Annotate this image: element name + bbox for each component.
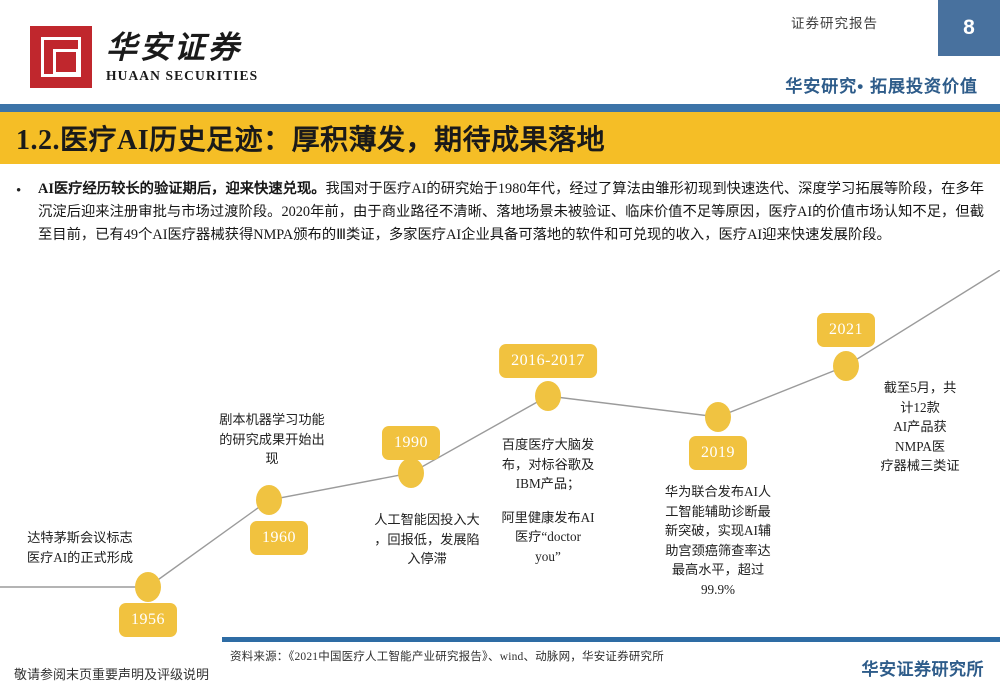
timeline-node-description: 百度医疗大脑发布，对标谷歌及IBM产品；阿里健康发布AI医疗“doctoryou… [501, 435, 594, 566]
timeline-node-dot [135, 572, 161, 602]
timeline-year-badge[interactable]: 2016-2017 [499, 344, 597, 378]
title-blue-strip [0, 104, 1000, 112]
logo-name-en: HUAAN SECURITIES [106, 69, 258, 83]
timeline-desc-line: 阿里健康发布AI医疗“doctoryou” [501, 508, 594, 567]
timeline-node-dot [705, 402, 731, 432]
timeline-node-dot [398, 458, 424, 488]
page-title: 1.2.医疗AI历史足迹：厚积薄发，期待成果落地 [0, 118, 605, 158]
logo-name-cn: 华安证券 [106, 32, 258, 63]
header-slogan: 华安研究• 拓展投资价值 [785, 72, 978, 97]
timeline-desc-line: 达特茅斯会议标志医疗AI的正式形成 [27, 528, 133, 567]
timeline-node-description: 达特茅斯会议标志医疗AI的正式形成 [27, 528, 133, 567]
timeline-desc-line: 剧本机器学习功能的研究成果开始出现 [219, 410, 325, 469]
footer-divider [222, 637, 1000, 642]
huaan-logo-icon [30, 26, 92, 88]
body-paragraph-block: • AI医疗经历较长的验证期后，迎来快速兑现。我国对于医疗AI的研究始于1980… [16, 178, 984, 247]
timeline-desc-line: 华为联合发布AI人工智能辅助诊断最新突破，实现AI辅助宫颈癌筛查率达最高水平，超… [665, 482, 771, 599]
timeline-node-description: 截至5月，共计12款AI产品获NMPA医疗器械三类证 [880, 378, 960, 476]
footer-brand: 华安证券研究所 [862, 655, 985, 680]
body-lead: AI医疗经历较长的验证期后，迎来快速兑现。 [38, 181, 326, 197]
logo-wordmark: 华安证券 HUAAN SECURITIES [106, 32, 258, 83]
timeline-node-dot [535, 381, 561, 411]
report-type-label: 证券研究报告 [791, 12, 878, 32]
timeline-year-badge[interactable]: 1960 [250, 521, 308, 555]
body-paragraph: AI医疗经历较长的验证期后，迎来快速兑现。我国对于医疗AI的研究始于1980年代… [38, 178, 984, 247]
timeline-node-description: 华为联合发布AI人工智能辅助诊断最新突破，实现AI辅助宫颈癌筛查率达最高水平，超… [665, 482, 771, 599]
timeline-desc-line: 人工智能因投入大，回报低，发展陷入停滞 [374, 510, 480, 569]
slide-root: 华安证券 HUAAN SECURITIES 证券研究报告 8 华安研究• 拓展投… [0, 0, 1000, 692]
slide-title-band: 1.2.医疗AI历史足迹：厚积薄发，期待成果落地 [0, 112, 1000, 164]
timeline-desc-line: 截至5月，共计12款AI产品获NMPA医疗器械三类证 [880, 378, 960, 476]
disclaimer-note: 敬请参阅末页重要声明及评级说明 [14, 664, 209, 683]
timeline-year-badge[interactable]: 2019 [689, 436, 747, 470]
page-number-badge: 8 [938, 0, 1000, 56]
timeline-desc-line: 百度医疗大脑发布，对标谷歌及IBM产品； [501, 435, 594, 494]
timeline-node-dot [256, 485, 282, 515]
timeline-year-badge[interactable]: 2021 [817, 313, 875, 347]
timeline-node-dot [833, 351, 859, 381]
timeline-year-badge[interactable]: 1956 [119, 603, 177, 637]
company-logo: 华安证券 HUAAN SECURITIES [30, 26, 258, 88]
bullet-icon: • [16, 178, 30, 247]
timeline-year-badge[interactable]: 1990 [382, 426, 440, 460]
timeline-node-description: 剧本机器学习功能的研究成果开始出现 [219, 410, 325, 469]
timeline-node-description: 人工智能因投入大，回报低，发展陷入停滞 [374, 510, 480, 569]
source-note: 资料来源：《2021中国医疗人工智能产业研究报告》、wind、动脉网，华安证券研… [230, 648, 664, 664]
timeline-chart: 1956达特茅斯会议标志医疗AI的正式形成1960剧本机器学习功能的研究成果开始… [0, 270, 1000, 650]
